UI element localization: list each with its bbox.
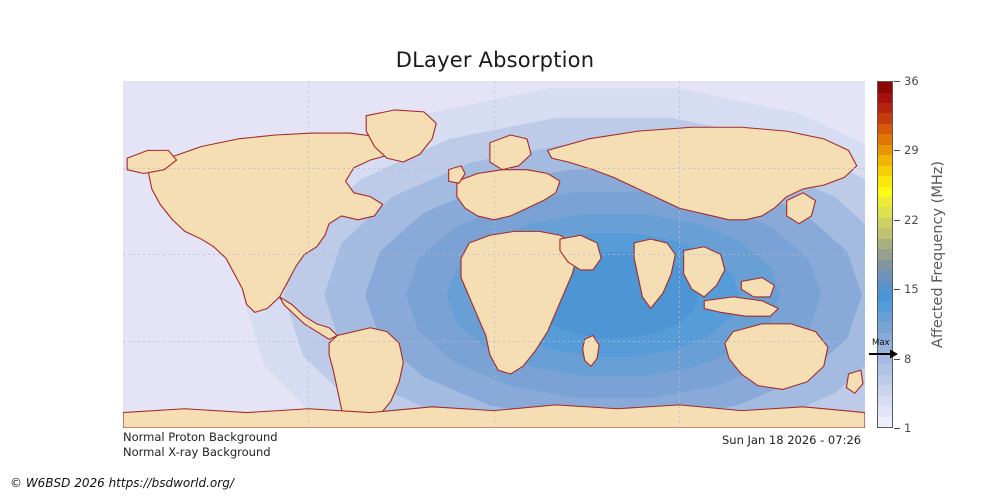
colorbar-band-24 <box>878 166 892 176</box>
colorbar-band-23 <box>878 176 892 186</box>
colorbar-band-19 <box>878 218 892 228</box>
colorbar-band-18 <box>878 228 892 238</box>
colorbar-band-26 <box>878 145 892 155</box>
colorbar-band-32 <box>878 82 892 92</box>
map-plot-area <box>123 81 865 428</box>
colorbar-band-21 <box>878 197 892 207</box>
colorbar-band-22 <box>878 187 892 197</box>
colorbar-tick-label: 22 <box>904 213 919 227</box>
proton-background-status: Normal Proton Background <box>123 430 278 444</box>
xray-background-status: Normal X-ray Background <box>123 445 271 459</box>
colorbar-tick-label: 29 <box>904 143 919 157</box>
colorbar-band-25 <box>878 155 892 165</box>
colorbar-tick-mark <box>894 220 900 221</box>
colorbar-band-30 <box>878 103 892 113</box>
colorbar-band-13 <box>878 281 892 291</box>
colorbar-band-28 <box>878 124 892 134</box>
colorbar-band-29 <box>878 113 892 123</box>
colorbar-band-14 <box>878 270 892 280</box>
colorbar-band-3 <box>878 385 892 395</box>
colorbar-tick-label: 8 <box>904 352 911 366</box>
colorbar-band-11 <box>878 302 892 312</box>
colorbar-band-8 <box>878 333 892 343</box>
colorbar-tick-label: 1 <box>904 421 911 435</box>
colorbar-band-4 <box>878 375 892 385</box>
dlayer-absorption-figure: DLayer Absorption <box>0 0 1000 500</box>
colorbar-tick-mark <box>894 359 900 360</box>
world-coastline-layer <box>123 81 865 428</box>
colorbar-tick-mark <box>894 150 900 151</box>
colorbar-gradient <box>877 81 893 428</box>
colorbar-band-0 <box>878 417 892 427</box>
colorbar-title-text: Affected Frequency (MHz) <box>930 161 946 348</box>
colorbar-band-27 <box>878 134 892 144</box>
colorbar-band-5 <box>878 364 892 374</box>
colorbar-band-31 <box>878 93 892 103</box>
colorbar-band-20 <box>878 207 892 217</box>
colorbar-band-7 <box>878 343 892 353</box>
colorbar-band-9 <box>878 322 892 332</box>
page-title: DLayer Absorption <box>0 48 990 72</box>
colorbar-band-6 <box>878 354 892 364</box>
colorbar-band-2 <box>878 396 892 406</box>
colorbar-band-17 <box>878 239 892 249</box>
copyright-footer: © W6BSD 2026 https://bsdworld.org/ <box>10 476 234 490</box>
colorbar-band-12 <box>878 291 892 301</box>
colorbar-band-1 <box>878 406 892 416</box>
colorbar-tick-label: 15 <box>904 282 919 296</box>
timestamp: Sun Jan 18 2026 - 07:26 <box>722 433 861 447</box>
colorbar-band-10 <box>878 312 892 322</box>
colorbar-band-15 <box>878 260 892 270</box>
colorbar-band-16 <box>878 249 892 259</box>
colorbar <box>877 81 893 428</box>
colorbar-title: Affected Frequency (MHz) <box>928 81 948 428</box>
colorbar-tick-mark <box>894 81 900 82</box>
colorbar-tick-mark <box>894 289 900 290</box>
colorbar-tick-mark <box>894 428 900 429</box>
colorbar-tick-label: 36 <box>904 74 919 88</box>
